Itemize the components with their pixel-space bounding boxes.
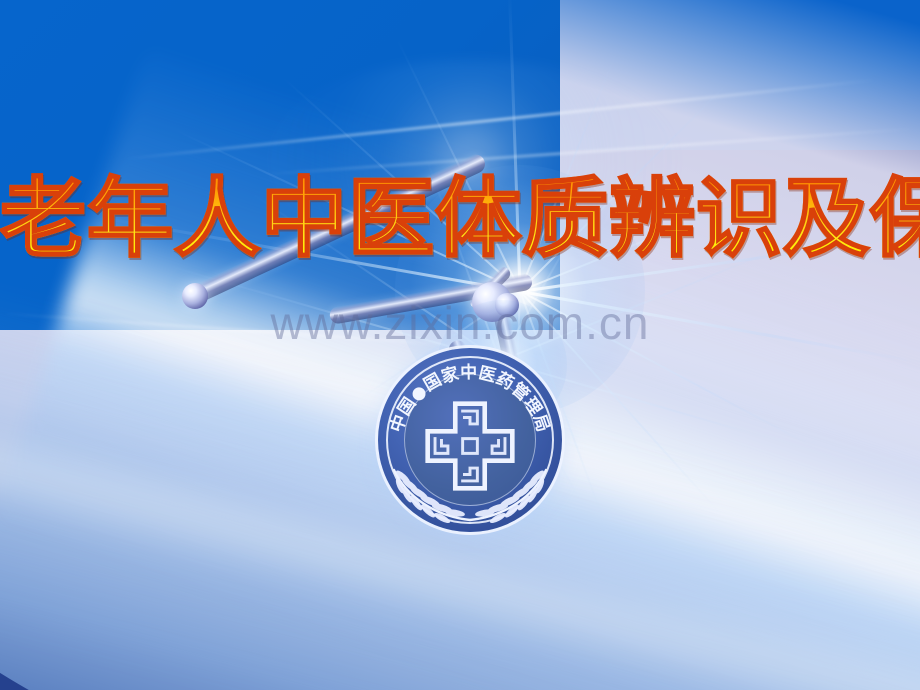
tcm-administration-emblem: 中国●国家中医药管理局: [378, 348, 562, 532]
presentation-slide: www.zixin.com.cn 中国●国家中医药管理局: [0, 0, 920, 690]
wheat-wreath-icon: [386, 462, 554, 524]
structure-node: [495, 293, 519, 317]
structure-node: [182, 283, 208, 309]
